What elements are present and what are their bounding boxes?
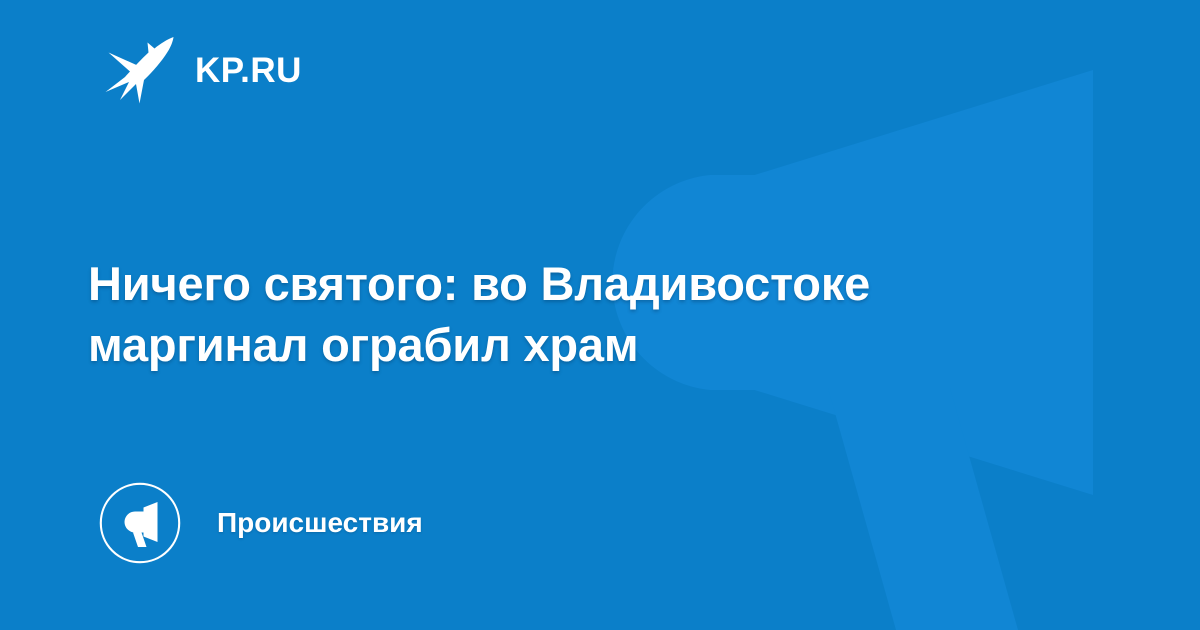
headline: Ничего святого: во Владивостоке маргинал… [88, 253, 1078, 375]
brand-logo[interactable]: KP.RU [103, 34, 302, 106]
megaphone-icon [99, 482, 181, 564]
swallow-bird-icon [103, 34, 177, 106]
share-card: KP.RU Ничего святого: во Владивостоке ма… [0, 0, 1200, 630]
headline-line-2: маргинал ограбил храм [88, 314, 1078, 375]
category-label: Происшествия [217, 509, 423, 537]
headline-line-1: Ничего святого: во Владивостоке [88, 253, 1078, 314]
category-badge[interactable]: Происшествия [99, 482, 423, 564]
brand-name: KP.RU [195, 53, 302, 88]
